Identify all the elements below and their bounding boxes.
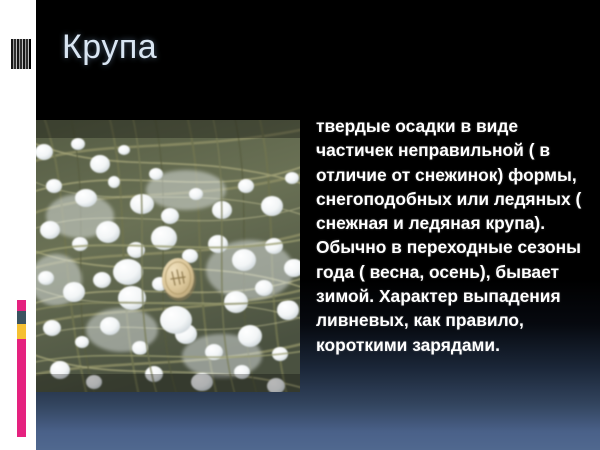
accent-segment-pink-run	[17, 345, 26, 437]
graupel-on-grass-photo	[36, 120, 300, 392]
accent-segment-pink-top	[17, 300, 26, 311]
slide-title: Крупа	[62, 26, 482, 68]
accent-segment-gold	[17, 324, 26, 339]
vertical-color-accent-bar	[17, 300, 26, 437]
striped-bar-decoration-icon	[11, 39, 31, 69]
accent-segment-teal	[17, 311, 26, 324]
slide-body-text: твердые осадки в виде частичек неправиль…	[316, 114, 592, 357]
presentation-slide: Крупа	[0, 0, 600, 450]
